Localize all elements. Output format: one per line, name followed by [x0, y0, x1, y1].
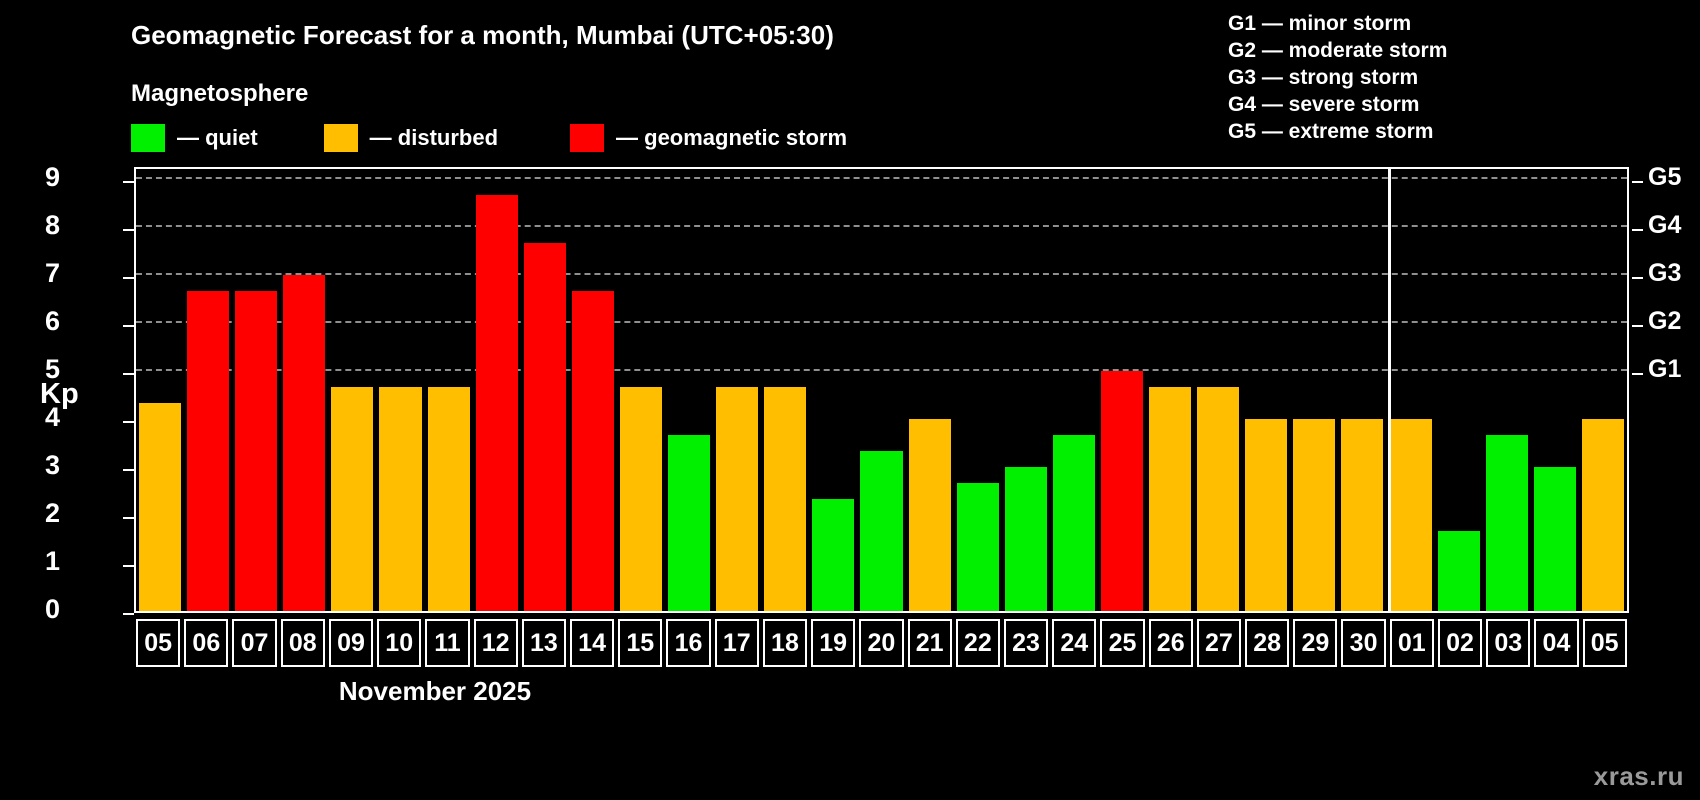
- x-axis-label: November 2025: [0, 676, 1700, 707]
- bar-slot[interactable]: [1146, 169, 1194, 611]
- date-cell[interactable]: 01: [1388, 619, 1436, 667]
- bar-slot[interactable]: [1483, 169, 1531, 611]
- bar-slot[interactable]: [713, 169, 761, 611]
- date-axis: 0506070809101112131415161718192021222324…: [134, 619, 1629, 667]
- g-tick-mark: [1632, 181, 1643, 183]
- date-box: 25: [1100, 619, 1144, 667]
- legend-swatch-icon: [324, 124, 358, 152]
- g-scale-row: G5 — extreme storm: [1228, 118, 1447, 145]
- date-cell[interactable]: 10: [375, 619, 423, 667]
- date-box: 17: [715, 619, 759, 667]
- y-tick-label: 8: [0, 210, 60, 241]
- date-label: 05: [1591, 629, 1619, 658]
- bar[interactable]: [379, 387, 421, 611]
- g-tick-mark: [1632, 229, 1643, 231]
- y-tick-label: 5: [0, 354, 60, 385]
- date-cell[interactable]: 16: [664, 619, 712, 667]
- bar-slot[interactable]: [1098, 169, 1146, 611]
- g-scale-row: G4 — severe storm: [1228, 91, 1447, 118]
- bar[interactable]: [1245, 419, 1287, 611]
- date-label: 13: [530, 629, 558, 658]
- date-box: 12: [474, 619, 518, 667]
- y-tick-label: 9: [0, 162, 60, 193]
- y-tick-label: 2: [0, 498, 60, 529]
- bar[interactable]: [139, 403, 181, 611]
- date-box: 20: [859, 619, 903, 667]
- date-box: 08: [281, 619, 325, 667]
- date-label: 18: [771, 629, 799, 658]
- date-label: 24: [1060, 629, 1088, 658]
- month-divider: [1388, 169, 1391, 611]
- y-tick-mark: [123, 469, 134, 471]
- g-scale-legend: G1 — minor stormG2 — moderate stormG3 — …: [1228, 10, 1447, 145]
- bar[interactable]: [716, 387, 758, 611]
- y-tick-mark: [123, 181, 134, 183]
- y-tick-label: 6: [0, 306, 60, 337]
- date-label: 14: [578, 629, 606, 658]
- y-tick-mark: [123, 373, 134, 375]
- bar[interactable]: [1005, 467, 1047, 611]
- g-tick-label: G1: [1648, 355, 1681, 384]
- page-title: Geomagnetic Forecast for a month, Mumbai…: [131, 20, 834, 51]
- date-box: 07: [232, 619, 276, 667]
- date-cell[interactable]: 17: [713, 619, 761, 667]
- y-tick-label: 0: [0, 594, 60, 625]
- bar[interactable]: [909, 419, 951, 611]
- bar-slot[interactable]: [425, 169, 473, 611]
- date-label: 27: [1205, 629, 1233, 658]
- date-box: 02: [1438, 619, 1482, 667]
- date-label: 07: [241, 629, 269, 658]
- legend-swatch-icon: [570, 124, 604, 152]
- date-label: 30: [1350, 629, 1378, 658]
- bar-slot[interactable]: [1579, 169, 1627, 611]
- legend-label: — geomagnetic storm: [616, 125, 847, 151]
- date-box: 09: [329, 619, 373, 667]
- legend-item: — disturbed: [324, 124, 498, 152]
- bar[interactable]: [957, 483, 999, 611]
- bar-slot[interactable]: [809, 169, 857, 611]
- date-label: 06: [192, 629, 220, 658]
- bar[interactable]: [1197, 387, 1239, 611]
- date-box: 29: [1293, 619, 1337, 667]
- date-cell[interactable]: 05: [1581, 619, 1629, 667]
- y-tick-label: 1: [0, 546, 60, 577]
- date-box: 14: [570, 619, 614, 667]
- bar[interactable]: [764, 387, 806, 611]
- legend-item: — quiet: [131, 124, 258, 152]
- date-cell[interactable]: 11: [423, 619, 471, 667]
- date-box: 19: [811, 619, 855, 667]
- bar[interactable]: [1053, 435, 1095, 611]
- date-cell[interactable]: 18: [761, 619, 809, 667]
- legend-swatch-icon: [131, 124, 165, 152]
- bar[interactable]: [1293, 419, 1335, 611]
- date-cell[interactable]: 30: [1339, 619, 1387, 667]
- date-box: 18: [763, 619, 807, 667]
- y-tick-label: 4: [0, 402, 60, 433]
- date-cell[interactable]: 05: [134, 619, 182, 667]
- date-box: 05: [136, 619, 180, 667]
- bar-slot[interactable]: [232, 169, 280, 611]
- g-scale-row: G2 — moderate storm: [1228, 37, 1447, 64]
- date-box: 28: [1245, 619, 1289, 667]
- date-label: 01: [1398, 629, 1426, 658]
- bar-slot[interactable]: [521, 169, 569, 611]
- legend-label: — disturbed: [370, 125, 498, 151]
- date-box: 01: [1390, 619, 1434, 667]
- bar-slot[interactable]: [617, 169, 665, 611]
- y-tick-mark: [123, 517, 134, 519]
- bar-slot[interactable]: [1338, 169, 1386, 611]
- g-tick-label: G3: [1648, 259, 1681, 288]
- date-cell[interactable]: 26: [1147, 619, 1195, 667]
- date-box: 26: [1149, 619, 1193, 667]
- date-box: 13: [522, 619, 566, 667]
- date-cell[interactable]: 03: [1484, 619, 1532, 667]
- bar-slot[interactable]: [761, 169, 809, 611]
- bar[interactable]: [1389, 419, 1431, 611]
- plot-area: [134, 167, 1629, 613]
- y-tick-mark: [123, 229, 134, 231]
- bar-slot[interactable]: [569, 169, 617, 611]
- date-label: 10: [385, 629, 413, 658]
- date-cell[interactable]: 23: [1002, 619, 1050, 667]
- bar[interactable]: [1101, 371, 1143, 611]
- date-label: 23: [1012, 629, 1040, 658]
- g-tick-mark: [1632, 325, 1643, 327]
- date-label: 03: [1494, 629, 1522, 658]
- date-cell[interactable]: 20: [857, 619, 905, 667]
- date-cell[interactable]: 14: [568, 619, 616, 667]
- y-tick-mark: [123, 325, 134, 327]
- g-scale-row: G1 — minor storm: [1228, 10, 1447, 37]
- y-tick-mark: [123, 613, 134, 615]
- bar[interactable]: [812, 499, 854, 611]
- bar-slot[interactable]: [906, 169, 954, 611]
- date-cell[interactable]: 07: [230, 619, 278, 667]
- bar-slot[interactable]: [280, 169, 328, 611]
- legend-label: — quiet: [177, 125, 258, 151]
- date-label: 20: [867, 629, 895, 658]
- date-label: 16: [675, 629, 703, 658]
- bar[interactable]: [668, 435, 710, 611]
- y-tick-label: 7: [0, 258, 60, 289]
- y-tick-mark: [123, 565, 134, 567]
- watermark: xras.ru: [1594, 761, 1684, 792]
- date-box: 30: [1341, 619, 1385, 667]
- magnetosphere-legend: — quiet— disturbed— geomagnetic storm: [131, 124, 847, 152]
- date-cell[interactable]: 08: [279, 619, 327, 667]
- date-cell[interactable]: 19: [809, 619, 857, 667]
- date-box: 23: [1004, 619, 1048, 667]
- bar[interactable]: [428, 387, 470, 611]
- bar-series: [136, 169, 1627, 611]
- bar-slot[interactable]: [184, 169, 232, 611]
- bar[interactable]: [1438, 531, 1480, 611]
- g-tick-label: G2: [1648, 307, 1681, 336]
- bar-slot[interactable]: [136, 169, 184, 611]
- date-label: 15: [626, 629, 654, 658]
- bar[interactable]: [1341, 419, 1383, 611]
- bar[interactable]: [572, 291, 614, 611]
- x-axis-label-text: November 2025: [339, 676, 531, 706]
- date-cell[interactable]: 27: [1195, 619, 1243, 667]
- date-cell[interactable]: 28: [1243, 619, 1291, 667]
- date-cell[interactable]: 15: [616, 619, 664, 667]
- bar-slot[interactable]: [1050, 169, 1098, 611]
- date-cell[interactable]: 02: [1436, 619, 1484, 667]
- bar-slot[interactable]: [1002, 169, 1050, 611]
- bar-slot[interactable]: [376, 169, 424, 611]
- bar-slot[interactable]: [473, 169, 521, 611]
- date-label: 08: [289, 629, 317, 658]
- bar-slot[interactable]: [1531, 169, 1579, 611]
- date-box: 04: [1534, 619, 1578, 667]
- date-label: 22: [964, 629, 992, 658]
- date-label: 19: [819, 629, 847, 658]
- date-label: 26: [1157, 629, 1185, 658]
- date-box: 16: [666, 619, 710, 667]
- date-cell[interactable]: 22: [954, 619, 1002, 667]
- date-label: 09: [337, 629, 365, 658]
- date-box: 15: [618, 619, 662, 667]
- y-tick-mark: [123, 421, 134, 423]
- g-tick-mark: [1632, 373, 1643, 375]
- date-cell[interactable]: 21: [906, 619, 954, 667]
- y-tick-mark: [123, 277, 134, 279]
- bar-slot[interactable]: [1435, 169, 1483, 611]
- bar-slot[interactable]: [328, 169, 376, 611]
- date-label: 28: [1253, 629, 1281, 658]
- bar[interactable]: [620, 387, 662, 611]
- date-cell[interactable]: 12: [472, 619, 520, 667]
- date-label: 21: [916, 629, 944, 658]
- date-cell[interactable]: 25: [1098, 619, 1146, 667]
- date-cell[interactable]: 04: [1532, 619, 1580, 667]
- bar-slot[interactable]: [665, 169, 713, 611]
- bar-slot[interactable]: [857, 169, 905, 611]
- bar[interactable]: [235, 291, 277, 611]
- bar[interactable]: [476, 195, 518, 611]
- date-label: 05: [144, 629, 172, 658]
- date-box: 10: [377, 619, 421, 667]
- y-tick-label: 3: [0, 450, 60, 481]
- bar-slot[interactable]: [1242, 169, 1290, 611]
- date-label: 17: [723, 629, 751, 658]
- date-box: 27: [1197, 619, 1241, 667]
- g-tick-label: G5: [1648, 163, 1681, 192]
- bar-slot[interactable]: [1386, 169, 1434, 611]
- g-scale-row: G3 — strong storm: [1228, 64, 1447, 91]
- bar[interactable]: [1149, 387, 1191, 611]
- g-tick-mark: [1632, 277, 1643, 279]
- date-box: 22: [956, 619, 1000, 667]
- date-box: 06: [184, 619, 228, 667]
- date-cell[interactable]: 06: [182, 619, 230, 667]
- legend-item: — geomagnetic storm: [570, 124, 847, 152]
- bar-slot[interactable]: [954, 169, 1002, 611]
- bar[interactable]: [524, 243, 566, 611]
- date-cell[interactable]: 24: [1050, 619, 1098, 667]
- chart-canvas: Geomagnetic Forecast for a month, Mumbai…: [0, 0, 1700, 800]
- date-label: 02: [1446, 629, 1474, 658]
- date-cell[interactable]: 13: [520, 619, 568, 667]
- bar[interactable]: [331, 387, 373, 611]
- date-box: 05: [1583, 619, 1627, 667]
- date-label: 12: [482, 629, 510, 658]
- g-tick-label: G4: [1648, 211, 1681, 240]
- bar[interactable]: [860, 451, 902, 611]
- date-box: 24: [1052, 619, 1096, 667]
- date-label: 25: [1109, 629, 1137, 658]
- date-label: 04: [1543, 629, 1571, 658]
- bar-slot[interactable]: [1290, 169, 1338, 611]
- bar[interactable]: [1486, 435, 1528, 611]
- bar[interactable]: [283, 275, 325, 611]
- date-cell[interactable]: 09: [327, 619, 375, 667]
- date-box: 11: [425, 619, 469, 667]
- bar-slot[interactable]: [1194, 169, 1242, 611]
- chart-subtitle: Magnetosphere: [131, 80, 308, 108]
- date-box: 03: [1486, 619, 1530, 667]
- date-label: 11: [434, 629, 460, 658]
- date-box: 21: [908, 619, 952, 667]
- bar[interactable]: [1534, 467, 1576, 611]
- bar[interactable]: [187, 291, 229, 611]
- date-label: 29: [1301, 629, 1329, 658]
- bar[interactable]: [1582, 419, 1624, 611]
- date-cell[interactable]: 29: [1291, 619, 1339, 667]
